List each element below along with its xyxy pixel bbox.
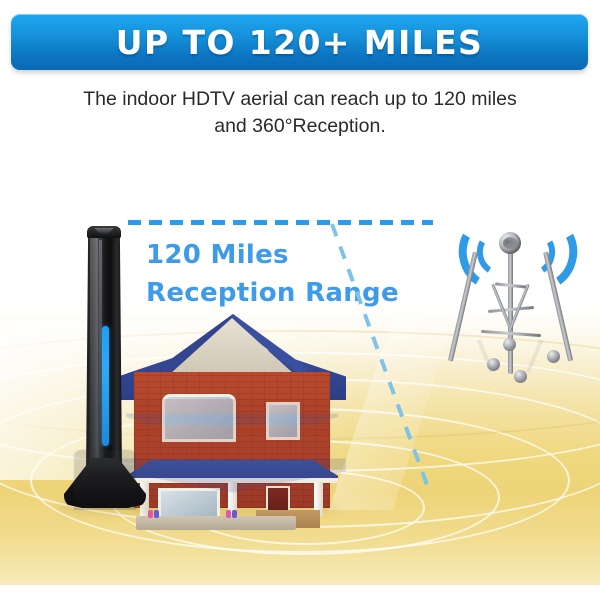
callout-dashed-rule bbox=[128, 220, 433, 225]
product-feature-image: UP TO 120+ MILES The indoor HDTV aerial … bbox=[0, 0, 600, 600]
house-flower-4 bbox=[232, 510, 237, 518]
house-flower-1 bbox=[148, 510, 153, 518]
headline-banner: UP TO 120+ MILES bbox=[11, 14, 588, 70]
subtitle-line-2: and 360°Reception. bbox=[40, 113, 560, 140]
antenna-reflection bbox=[60, 444, 160, 510]
tower-reflection bbox=[470, 328, 550, 372]
tower-globe-icon bbox=[499, 232, 521, 254]
antenna-highlight bbox=[90, 234, 98, 470]
antenna-led-strip bbox=[102, 326, 109, 446]
house-stone-steps bbox=[136, 516, 296, 530]
house-flower-3 bbox=[226, 510, 231, 518]
bottom-white-strip bbox=[0, 585, 600, 600]
headline-text: UP TO 120+ MILES bbox=[116, 23, 483, 62]
subtitle-line-1: The indoor HDTV aerial can reach up to 1… bbox=[40, 86, 560, 113]
callout-line-1: 120 Miles bbox=[146, 236, 399, 274]
house-flower-2 bbox=[154, 510, 159, 518]
subtitle-block: The indoor HDTV aerial can reach up to 1… bbox=[40, 86, 560, 140]
